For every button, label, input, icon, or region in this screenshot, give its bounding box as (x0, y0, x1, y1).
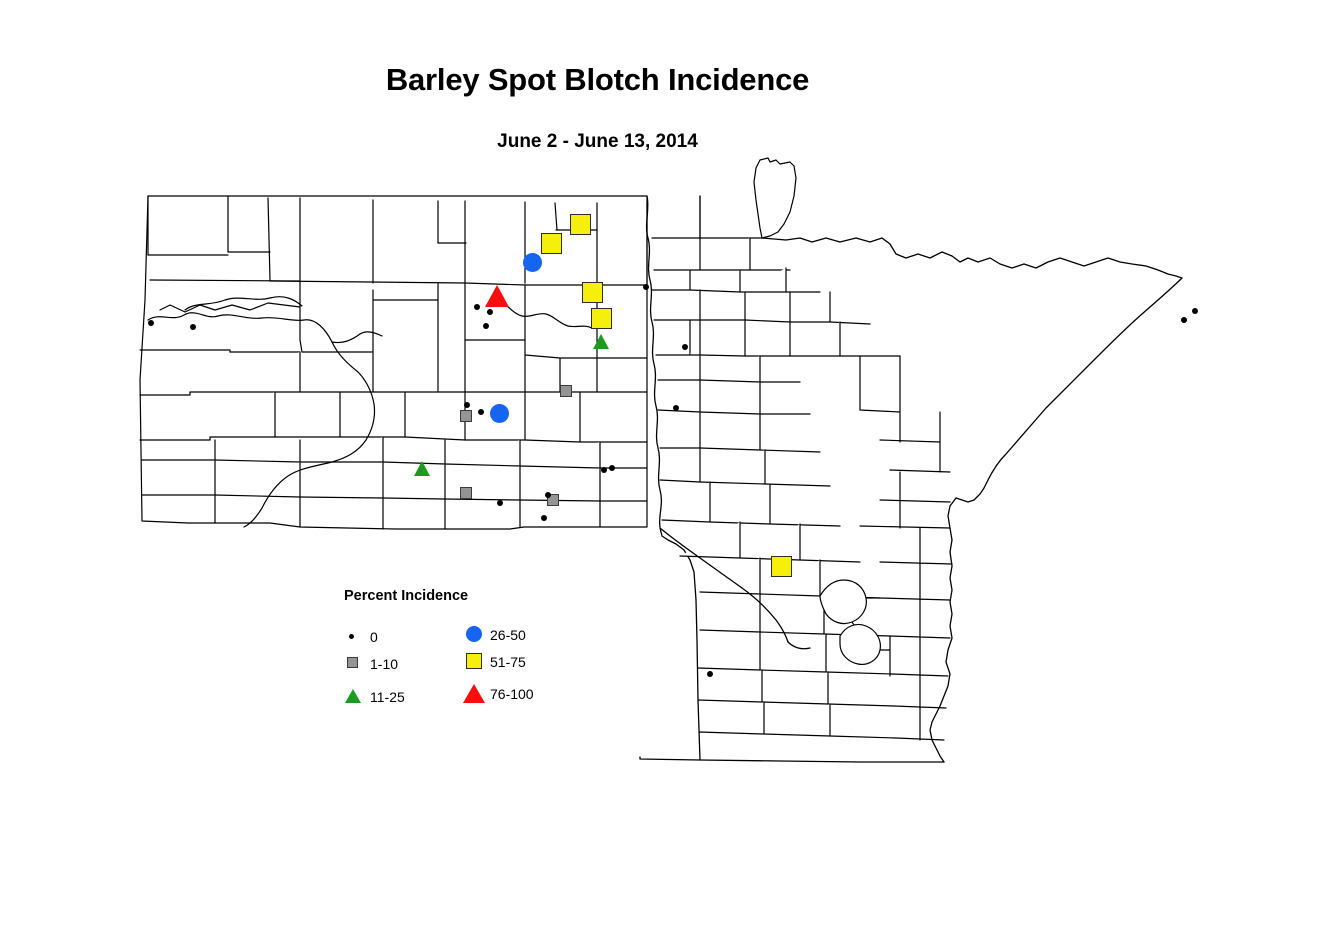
red-triangle-icon (464, 683, 486, 703)
incidence-marker-76-100 (485, 285, 509, 307)
legend-label-1: 1-10 (370, 655, 398, 673)
incidence-marker-0 (643, 284, 649, 290)
incidence-marker-0 (541, 515, 547, 521)
incidence-marker-0 (474, 304, 480, 310)
incidence-marker-0 (1192, 308, 1198, 314)
incidence-marker-0 (190, 324, 196, 330)
map-container (0, 0, 1341, 926)
incidence-marker-1-10 (460, 410, 472, 422)
incidence-marker-0 (682, 344, 688, 350)
legend-label-0: 0 (370, 628, 378, 646)
incidence-marker-51-75 (541, 233, 562, 254)
incidence-marker-0 (464, 402, 470, 408)
incidence-marker-0 (483, 323, 489, 329)
incidence-marker-0 (148, 320, 154, 326)
incidence-marker-26-50 (523, 253, 542, 272)
incidence-marker-11-25 (414, 461, 430, 476)
incidence-marker-51-75 (582, 282, 603, 303)
incidence-marker-0 (707, 671, 713, 677)
yellow-square-icon (464, 651, 486, 671)
incidence-marker-11-25 (593, 334, 609, 349)
legend: Percent Incidence 0 1-10 11-25 26-50 51-… (330, 580, 590, 715)
gray-square-icon (344, 653, 366, 673)
incidence-marker-26-50 (490, 404, 509, 423)
small-black-dot-icon (344, 626, 366, 646)
legend-label-5: 76-100 (490, 685, 534, 703)
incidence-marker-0 (545, 492, 551, 498)
incidence-marker-51-75 (771, 556, 792, 577)
legend-label-3: 26-50 (490, 626, 526, 644)
incidence-marker-0 (609, 465, 615, 471)
incidence-marker-51-75 (591, 308, 612, 329)
incidence-marker-0 (673, 405, 679, 411)
legend-label-2: 11-25 (370, 688, 405, 706)
green-triangle-icon (344, 686, 366, 706)
incidence-marker-51-75 (570, 214, 591, 235)
incidence-marker-1-10 (460, 487, 472, 499)
county-outlines (140, 158, 1182, 762)
incidence-marker-1-10 (560, 385, 572, 397)
legend-label-4: 51-75 (490, 653, 526, 671)
incidence-marker-0 (601, 467, 607, 473)
blue-circle-icon (464, 624, 486, 644)
state-county-map (0, 0, 1341, 926)
incidence-marker-0 (487, 309, 493, 315)
incidence-marker-0 (1181, 317, 1187, 323)
legend-title: Percent Incidence (344, 588, 468, 604)
incidence-marker-0 (478, 409, 484, 415)
map-page: Barley Spot Blotch Incidence June 2 - Ju… (0, 0, 1341, 926)
incidence-marker-0 (497, 500, 503, 506)
